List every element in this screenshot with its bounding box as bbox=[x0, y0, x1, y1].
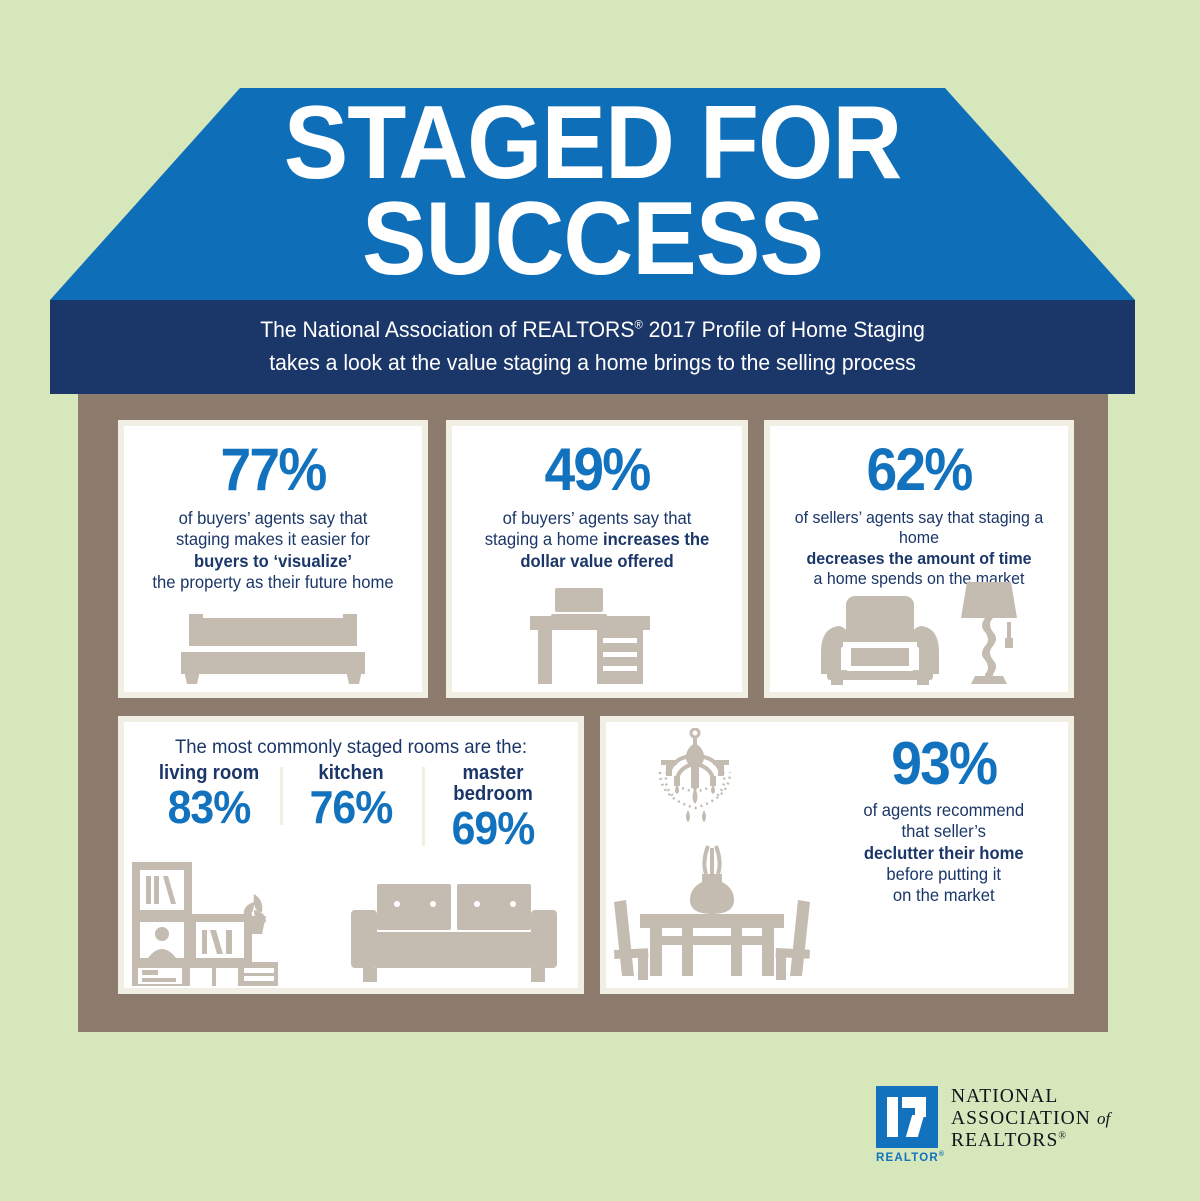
desc-line-4: on the market bbox=[892, 885, 994, 905]
stat-card-time-on-market: 62% of sellers’ agents say that staging … bbox=[764, 420, 1074, 698]
desc-line-3: before putting it bbox=[886, 864, 1001, 884]
nar-line-1: NATIONAL bbox=[951, 1086, 1110, 1108]
subtitle-line-2: takes a look at the value staging a home… bbox=[269, 350, 916, 375]
rooms-heading: The most commonly staged rooms are the: bbox=[135, 736, 566, 759]
nar-line-3: REALTORS bbox=[951, 1130, 1058, 1151]
desc-bold-b: dollar value offered bbox=[520, 551, 673, 571]
stat-card-declutter: 93% of agents recommend that seller’s de… bbox=[600, 716, 1074, 994]
icon-area-93 bbox=[606, 722, 819, 988]
icon-area-49 bbox=[452, 586, 742, 686]
realtor-mark: REALTOR® bbox=[876, 1086, 938, 1164]
subtitle-line-1a: The National Association of REALTORS bbox=[260, 317, 634, 342]
realtor-text: REALTOR bbox=[876, 1152, 939, 1164]
desc-line-2: that seller’s bbox=[901, 821, 985, 841]
dining-table-icon bbox=[612, 844, 812, 984]
subtitle-line-1b: 2017 Profile of Home Staging bbox=[643, 317, 925, 342]
stat-description-77: of buyers’ agents say that staging makes… bbox=[131, 508, 414, 593]
registered-mark: ® bbox=[634, 318, 642, 332]
desc-line-1: of buyers’ agents say that bbox=[179, 508, 368, 528]
desc-bold-a: increases the bbox=[603, 529, 709, 549]
realtor-r-icon bbox=[876, 1086, 938, 1148]
desc-line-1: of agents recommend bbox=[863, 800, 1024, 820]
desc-line-1: of buyers’ agents say that bbox=[503, 508, 692, 528]
stat-percent-77: 77% bbox=[136, 440, 410, 500]
stat-description-49: of buyers’ agents say that staging a hom… bbox=[459, 508, 735, 572]
floor-lamp-icon bbox=[959, 580, 1019, 686]
stat-percent-62: 62% bbox=[782, 440, 1056, 500]
desc-line-1: of sellers’ agents say that staging a ho… bbox=[795, 508, 1043, 547]
room-percent: 76% bbox=[289, 784, 414, 831]
desc-bold: declutter their home bbox=[863, 843, 1023, 863]
chandelier-icon bbox=[636, 728, 754, 828]
icon-area-77 bbox=[124, 608, 422, 686]
desc-bold: buyers to ‘visualize’ bbox=[194, 551, 352, 571]
realtor-wordmark: REALTOR® bbox=[876, 1151, 938, 1164]
nar-of: of bbox=[1097, 1109, 1110, 1128]
stat-description-62: of sellers’ agents say that staging a ho… bbox=[777, 508, 1060, 590]
roof-shape: STAGED FOR SUCCESS bbox=[50, 88, 1135, 300]
sofa-icon bbox=[349, 874, 559, 986]
rooms-row: living room 83% kitchen 76% master bedro… bbox=[124, 763, 578, 852]
page-title: STAGED FOR SUCCESS bbox=[88, 96, 1097, 287]
nar-line-3-row: REALTORS® bbox=[951, 1130, 1110, 1152]
nar-name: NATIONAL ASSOCIATION of REALTORS® bbox=[951, 1086, 1110, 1153]
desc-line-2: staging makes it easier for bbox=[176, 529, 370, 549]
stat-card-dollar-value: 49% of buyers’ agents say that staging a… bbox=[446, 420, 748, 698]
stat-card-buyers-visualize: 77% of buyers’ agents say that staging m… bbox=[118, 420, 428, 698]
stat-percent-49: 49% bbox=[464, 440, 731, 500]
stat-card-most-staged-rooms: The most commonly staged rooms are the: … bbox=[118, 716, 584, 994]
stat-description-93: of agents recommend that seller’s declut… bbox=[825, 800, 1062, 907]
bed-icon bbox=[173, 608, 373, 686]
stat-percent-93: 93% bbox=[828, 734, 1058, 794]
nar-line-2: ASSOCIATION bbox=[951, 1108, 1091, 1129]
desc-line-3: the property as their future home bbox=[152, 572, 393, 592]
armchair-icon bbox=[819, 594, 941, 686]
room-percent: 83% bbox=[147, 784, 272, 831]
nar-line-2-row: ASSOCIATION of bbox=[951, 1108, 1110, 1130]
subtitle-band: The National Association of REALTORS® 20… bbox=[50, 300, 1135, 394]
desk-icon bbox=[522, 586, 672, 686]
desc-line-2: staging a home bbox=[485, 529, 603, 549]
desc-bold: decreases the amount of time bbox=[806, 549, 1031, 568]
room-item-living-room: living room 83% bbox=[138, 763, 280, 831]
room-percent: 69% bbox=[431, 805, 556, 852]
infographic-canvas: STAGED FOR SUCCESS The National Associat… bbox=[0, 0, 1200, 1201]
nar-logo: REALTOR® NATIONAL ASSOCIATION of REALTOR… bbox=[876, 1086, 1110, 1164]
subtitle-text: The National Association of REALTORS® 20… bbox=[260, 314, 925, 379]
icon-area-rooms bbox=[124, 856, 578, 986]
room-item-master-bedroom: master bedroom 69% bbox=[422, 763, 564, 852]
title-line-2: SUCCESS bbox=[88, 192, 1097, 288]
bookshelf-icon bbox=[130, 860, 280, 986]
realtor-reg-mark: ® bbox=[939, 1151, 945, 1158]
icon-area-62 bbox=[770, 580, 1068, 686]
room-name: master bedroom bbox=[431, 763, 556, 805]
nar-reg-mark: ® bbox=[1058, 1131, 1067, 1142]
room-item-kitchen: kitchen 76% bbox=[280, 763, 422, 831]
